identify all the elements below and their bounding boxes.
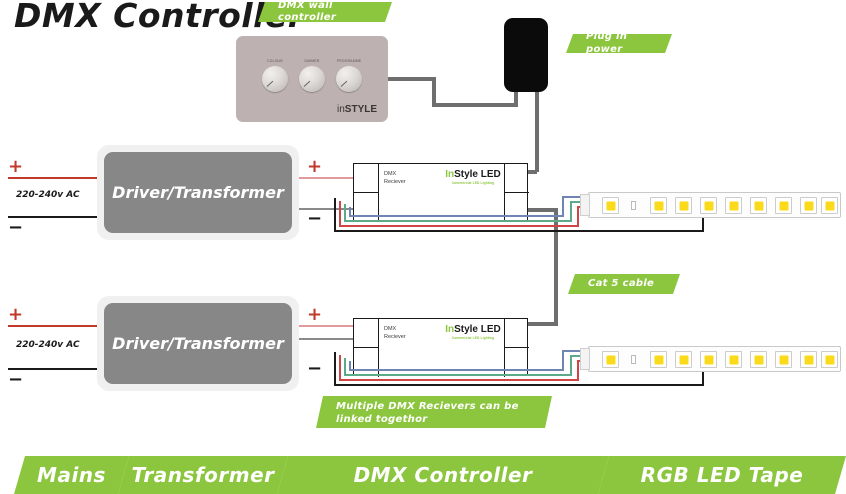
ch2-receiver-name: DMX Reciever — [384, 325, 406, 342]
ch1-cat5-in — [528, 170, 537, 174]
ch1-tape-connector — [580, 194, 590, 216]
ch1-driver-transformer: Driver/Transformer — [104, 152, 292, 233]
legend-segment-rgb-led-tape[interactable]: RGB LED Tape — [598, 456, 846, 494]
ch1-rgb-blue-v2 — [562, 196, 564, 217]
legend-label-rgb-led-tape: RGB LED Tape — [641, 463, 804, 487]
legend-label-mains: Mains — [37, 463, 106, 487]
ch2-logo-text: Style LED — [454, 324, 501, 335]
dmx-wall-controller-device: COLOUR DIMMER PROGRAMME inSTYLE — [236, 36, 388, 122]
ch2-rgb-red-h — [339, 379, 579, 381]
controller-brand-suffix: STYLE — [345, 104, 377, 115]
led-chip — [602, 351, 619, 368]
ch1-logo-sub: Commercial LED Lighting — [440, 181, 506, 185]
ch2-driver-shell: Driver/Transformer — [97, 296, 299, 391]
plug-in-power-supply — [504, 18, 548, 92]
ch2-output-negative-sign: − — [307, 360, 322, 378]
callout-cat5-cable: Cat 5 cable — [568, 274, 680, 294]
ch1-mains-live-wire — [8, 177, 104, 179]
led-chip — [650, 197, 667, 214]
ch2-dc-positive-wire — [299, 325, 353, 327]
ch1-output-negative-sign: − — [307, 210, 322, 228]
legend-segment-mains[interactable]: Mains — [14, 456, 129, 494]
ch1-receiver-divider-mid — [354, 192, 379, 193]
ch2-output-positive-sign: + — [307, 306, 322, 324]
ch2-rgb-red-v2 — [577, 360, 579, 381]
ch1-instyle-logo: InStyle LED Commercial LED Lighting — [440, 170, 506, 185]
led-chip — [821, 197, 838, 214]
psu-lead-left — [514, 92, 518, 107]
callout-plug-in-power-label: Plug in power — [586, 31, 656, 56]
ch2-rgb-green-h — [344, 374, 572, 376]
controller-to-psu-wire-h1 — [388, 77, 436, 81]
legend-segment-transformer[interactable]: Transformer — [118, 456, 288, 494]
ch1-mains-voltage-label: 220-240v AC — [16, 190, 80, 200]
ch2-input-negative-sign: − — [8, 371, 23, 389]
led-chip — [675, 197, 692, 214]
ch1-rgb-red-v2 — [577, 206, 579, 227]
led-chip — [700, 351, 717, 368]
knob-dimmer[interactable] — [299, 66, 325, 92]
knob-label-programme: PROGRAMME — [329, 59, 369, 63]
ch2-tape-connector — [580, 348, 590, 370]
led-chip — [700, 197, 717, 214]
ch1-rgb-blue-h — [349, 215, 564, 217]
ch1-input-negative-sign: − — [8, 219, 23, 237]
callout-multiple-receivers-label: Multiple DMX Recievers can be linked tog… — [336, 401, 536, 426]
ch1-input-positive-sign: + — [8, 158, 23, 176]
diagram-canvas: DMX Controller COLOUR DIMMER PROGRAMME i… — [0, 0, 846, 494]
ch2-receiver-name-line1: DMX — [384, 325, 406, 333]
ch1-receiver-divider-left — [378, 164, 379, 222]
led-chip — [650, 351, 667, 368]
ch2-rgb-black-h — [334, 384, 704, 386]
ch2-cat5-in-h — [528, 322, 558, 326]
led-chip — [725, 197, 742, 214]
ch1-logo-prefix: In — [445, 169, 454, 180]
led-chip — [750, 197, 767, 214]
ch1-dmx-receiver: DMX Reciever InStyle LED Commercial LED … — [353, 163, 528, 221]
legend-label-dmx-controller: DMX Controller — [354, 463, 533, 487]
knob-colour[interactable] — [262, 66, 288, 92]
callout-multiple-receivers: Multiple DMX Recievers can be linked tog… — [316, 396, 552, 428]
legend-segment-dmx-controller[interactable]: DMX Controller — [277, 456, 609, 494]
ch2-mains-voltage-label: 220-240v AC — [16, 340, 80, 350]
led-chip — [675, 351, 692, 368]
led-chip — [800, 197, 817, 214]
ch2-rgb-blue-v2 — [562, 350, 564, 371]
ch2-rgb-red-v — [339, 355, 341, 381]
ch1-driver-shell: Driver/Transformer — [97, 145, 299, 240]
tape-resistor — [631, 201, 636, 210]
ch2-logo-main: InStyle LED — [440, 325, 506, 335]
ch2-driver-label: Driver/Transformer — [112, 334, 284, 353]
ch2-logo-prefix: In — [445, 324, 454, 335]
ch1-rgb-red-v — [339, 201, 341, 227]
psu-lead-down — [535, 92, 539, 172]
ch2-driver-transformer: Driver/Transformer — [104, 303, 292, 384]
ch1-receiver-name-line2: Reciever — [384, 178, 406, 186]
legend-bar: Mains Transformer DMX Controller RGB LED… — [0, 456, 846, 494]
ch1-rgb-black-v — [334, 198, 336, 232]
legend-label-transformer: Transformer — [131, 463, 274, 487]
led-chip — [775, 351, 792, 368]
ch2-instyle-logo: InStyle LED Commercial LED Lighting — [440, 325, 506, 340]
led-chip — [750, 351, 767, 368]
ch2-receiver-name-line2: Reciever — [384, 333, 406, 341]
controller-to-psu-wire-h2 — [432, 103, 518, 107]
ch1-rgb-green-h — [344, 220, 572, 222]
ch1-rgb-red-h — [339, 225, 579, 227]
ch1-output-positive-sign: + — [307, 158, 322, 176]
led-chip — [775, 197, 792, 214]
ch1-receiver-name: DMX Reciever — [384, 170, 406, 187]
ch1-dc-positive-wire — [299, 177, 353, 179]
ch1-logo-text: Style LED — [454, 169, 501, 180]
controller-brand: inSTYLE — [337, 104, 377, 115]
ch1-receiver-name-line1: DMX — [384, 170, 406, 178]
ch2-mains-live-wire — [8, 325, 104, 327]
ch1-rgb-led-tape — [588, 192, 841, 218]
ch1-driver-label: Driver/Transformer — [112, 183, 284, 202]
knob-label-dimmer: DIMMER — [292, 59, 332, 63]
led-chip — [800, 351, 817, 368]
knob-label-colour: COLOUR — [255, 59, 295, 63]
ch1-logo-main: InStyle LED — [440, 170, 506, 180]
ch1-rgb-green-v2 — [570, 201, 572, 222]
knob-programme[interactable] — [336, 66, 362, 92]
callout-plug-in-power: Plug in power — [566, 34, 672, 53]
ch2-rgb-led-tape — [588, 346, 841, 372]
ch2-dmx-receiver: DMX Reciever InStyle LED Commercial LED … — [353, 318, 528, 376]
ch2-rgb-green-v2 — [570, 355, 572, 376]
controller-brand-prefix: in — [337, 104, 345, 115]
led-chip — [602, 197, 619, 214]
ch1-rgb-black-h — [334, 230, 704, 232]
ch2-rgb-black-v — [334, 352, 336, 386]
ch2-dc-negative-wire — [299, 338, 353, 340]
tape-resistor — [631, 355, 636, 364]
led-chip — [725, 351, 742, 368]
ch2-receiver-divider-mid — [354, 347, 379, 348]
ch2-receiver-divider-right-mid — [504, 347, 529, 348]
ch2-input-positive-sign: + — [8, 306, 23, 324]
callout-cat5-cable-label: Cat 5 cable — [588, 278, 654, 291]
callout-dmx-wall-controller-label: DMX wall controller — [278, 0, 376, 25]
ch2-rgb-blue-h — [349, 369, 564, 371]
led-chip — [821, 351, 838, 368]
ch1-receiver-divider-right-mid — [504, 192, 529, 193]
ch2-logo-sub: Commercial LED Lighting — [440, 336, 506, 340]
callout-dmx-wall-controller: DMX wall controller — [258, 2, 392, 22]
